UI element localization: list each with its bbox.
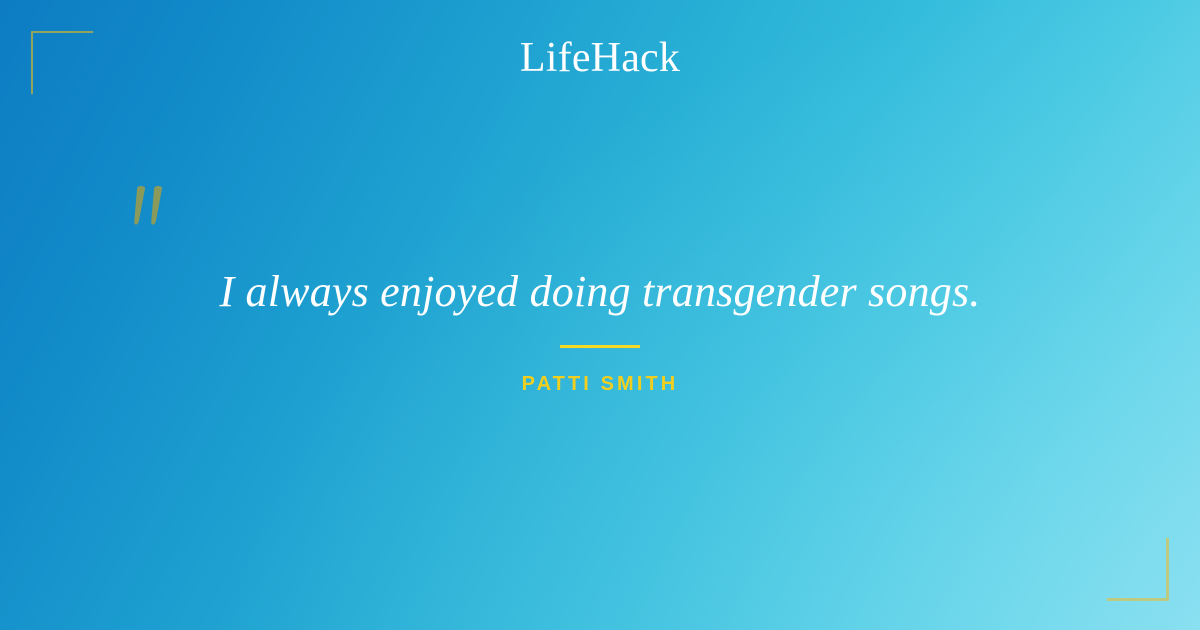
- quote-author: PATTI SMITH: [522, 374, 679, 394]
- quote-text: I always enjoyed doing transgender songs…: [100, 266, 1100, 318]
- quote-card: LifeHack I always enjoyed doing transgen…: [0, 0, 1200, 630]
- quote-content: I always enjoyed doing transgender songs…: [0, 0, 1200, 630]
- quote-divider: [560, 345, 640, 348]
